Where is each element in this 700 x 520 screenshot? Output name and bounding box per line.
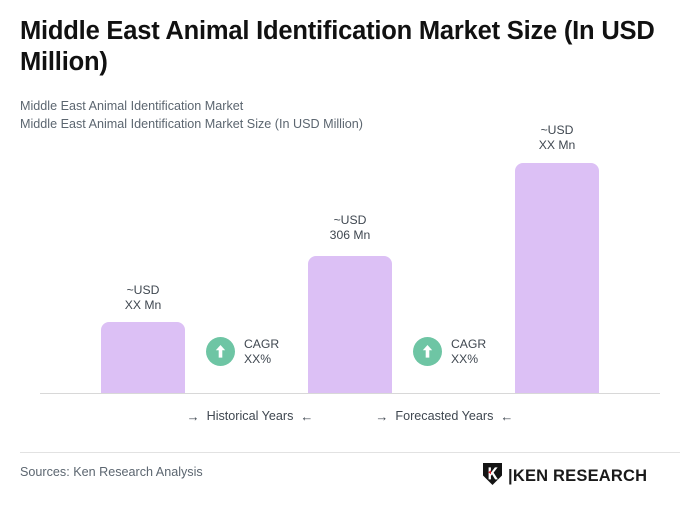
ken-research-shield-icon	[482, 462, 503, 491]
bar-1	[101, 322, 185, 393]
arrow-up-icon	[206, 337, 235, 366]
arrow-left-icon: ←	[500, 410, 513, 423]
period-label-historical: → Historical Years ←	[187, 409, 314, 423]
bar-3-label-line-2: XX Mn	[515, 138, 599, 153]
arrow-up-icon	[413, 337, 442, 366]
cagr-badge-1-text: CAGR XX%	[244, 337, 279, 366]
cagr-badge-1: CAGR XX%	[206, 337, 279, 366]
period-labels-row: → Historical Years ← → Forecasted Years …	[40, 409, 660, 423]
bar-2-label-line-2: 306 Mn	[308, 228, 392, 243]
bar-3-label: ~USD XX Mn	[515, 123, 599, 152]
bar-3-label-line-1: ~USD	[515, 123, 599, 138]
bar-2	[308, 256, 392, 393]
cagr-badge-2-line-1: CAGR	[451, 337, 486, 352]
arrow-left-icon: ←	[300, 410, 313, 423]
period-label-forecasted-text: Forecasted Years	[395, 409, 493, 423]
axis-baseline	[40, 393, 660, 394]
chart-page: Middle East Animal Identification Market…	[0, 0, 700, 520]
bar-1-label-line-1: ~USD	[101, 283, 185, 298]
arrow-right-icon: →	[187, 410, 200, 423]
arrow-right-icon: →	[375, 410, 388, 423]
footer-divider	[20, 452, 680, 453]
bar-3	[515, 163, 599, 393]
cagr-badge-1-line-2: XX%	[244, 352, 279, 367]
ken-research-wordmark-text: KEN RESEARCH	[513, 467, 647, 485]
bar-1-label: ~USD XX Mn	[101, 283, 185, 312]
ken-research-logo: |KEN RESEARCH	[482, 462, 647, 491]
bar-2-label-line-1: ~USD	[308, 213, 392, 228]
cagr-badge-2: CAGR XX%	[413, 337, 486, 366]
cagr-badge-1-line-1: CAGR	[244, 337, 279, 352]
bar-chart-plot-area: ~USD XX Mn CAGR XX% ~USD 306 Mn	[0, 0, 700, 440]
cagr-badge-2-text: CAGR XX%	[451, 337, 486, 366]
cagr-badge-2-line-2: XX%	[451, 352, 486, 367]
ken-research-wordmark: |KEN RESEARCH	[508, 468, 647, 485]
period-label-forecasted: → Forecasted Years ←	[375, 409, 513, 423]
bar-1-label-line-2: XX Mn	[101, 298, 185, 313]
period-label-historical-text: Historical Years	[207, 409, 294, 423]
bar-2-label: ~USD 306 Mn	[308, 213, 392, 242]
sources-text: Sources: Ken Research Analysis	[20, 465, 203, 479]
